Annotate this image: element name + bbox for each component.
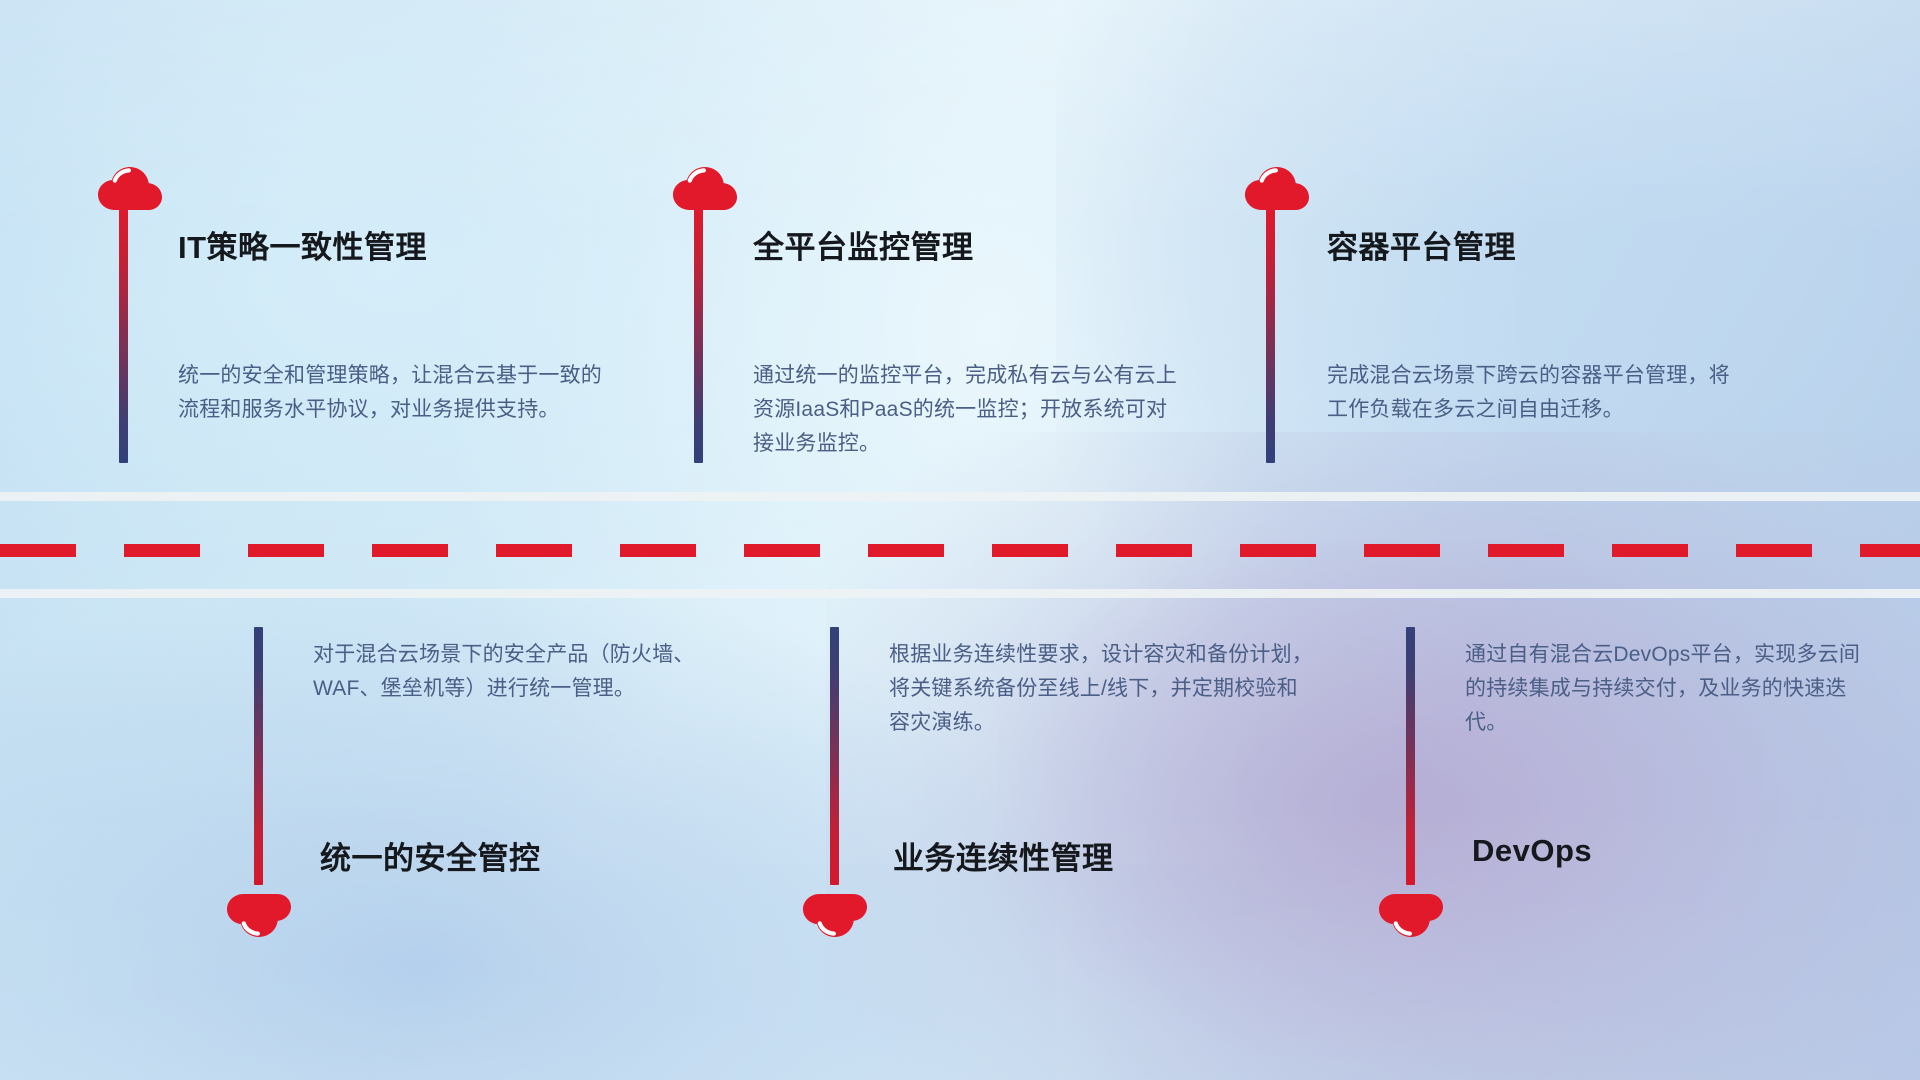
cloud-icon: [97, 163, 163, 211]
divider-line-bottom: [0, 589, 1920, 598]
column-title: DevOps: [1472, 833, 1592, 869]
column-title: IT策略一致性管理: [178, 222, 427, 267]
column-body: 通过自有混合云DevOps平台，实现多云间的持续集成与持续交付，及业务的快速迭代…: [1465, 638, 1880, 740]
divider-dashed-road: [0, 544, 1920, 557]
column-title: 业务连续性管理: [893, 833, 1114, 878]
column-title: 容器平台管理: [1327, 222, 1516, 267]
column-body: 对于混合云场景下的安全产品（防火墙、WAF、堡垒机等）进行统一管理。: [313, 638, 743, 706]
cloud-icon: [1378, 893, 1444, 941]
cloud-icon: [672, 163, 738, 211]
column-body: 完成混合云场景下跨云的容器平台管理，将工作负载在多云之间自由迁移。: [1327, 359, 1742, 427]
column-title: 全平台监控管理: [753, 222, 974, 267]
column-title: 统一的安全管控: [320, 833, 541, 878]
cloud-icon: [802, 893, 868, 941]
divider-line-top: [0, 492, 1920, 501]
connector-line: [254, 627, 263, 885]
connector-line: [119, 205, 128, 463]
cloud-icon: [226, 893, 292, 941]
connector-line: [1266, 205, 1275, 463]
connector-line: [830, 627, 839, 885]
connector-line: [1406, 627, 1415, 885]
connector-line: [694, 205, 703, 463]
column-body: 通过统一的监控平台，完成私有云与公有云上资源IaaS和PaaS的统一监控；开放系…: [753, 359, 1183, 461]
column-body: 根据业务连续性要求，设计容灾和备份计划，将关键系统备份至线上/线下，并定期校验和…: [889, 638, 1319, 740]
column-body: 统一的安全和管理策略，让混合云基于一致的流程和服务水平协议，对业务提供支持。: [178, 359, 608, 427]
cloud-icon: [1244, 163, 1310, 211]
